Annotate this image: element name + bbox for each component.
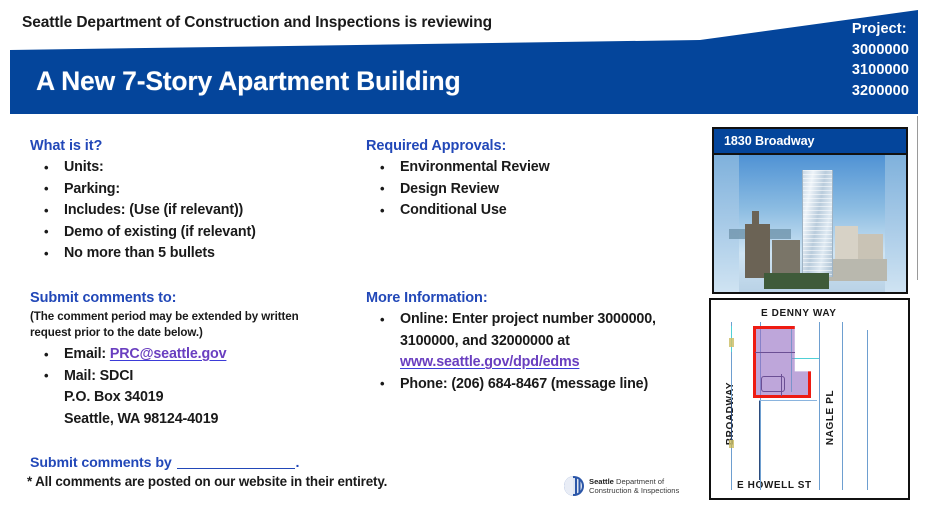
flyer-page: Seattle Department of Construction and I… xyxy=(0,0,926,510)
project-number-block: Project: 3000000 3100000 3200000 xyxy=(852,19,909,101)
sdci-logo-line1-rest: Department of xyxy=(614,477,664,486)
mail-address-line-3: Seattle, WA 98124-4019 xyxy=(64,409,360,431)
map-marker-b xyxy=(729,440,734,448)
rendering-trees xyxy=(764,273,829,289)
required-approvals-heading: Required Approvals: xyxy=(366,138,696,154)
mail-address-line-2: P.O. Box 34019 xyxy=(64,387,360,409)
submit-by-period: . xyxy=(296,455,300,471)
building-rendering-card: 1830 Broadway xyxy=(712,127,908,294)
list-item-mail: Mail: SDCI xyxy=(64,366,360,388)
section-required-approvals: Required Approvals: Environmental Review… xyxy=(366,138,696,222)
online-line-2: 3100000, and 32000000 at xyxy=(400,331,696,353)
section-more-information: More Information: Online: Enter project … xyxy=(366,290,696,395)
what-is-it-list: Units: Parking: Includes: (Use (if relev… xyxy=(30,157,360,265)
project-number-2: 3100000 xyxy=(852,60,909,81)
list-item: Includes: (Use (if relevant)) xyxy=(64,200,360,222)
list-item-online: Online: Enter project number 3000000, xyxy=(400,309,696,331)
map-marker-a xyxy=(729,338,734,347)
email-link[interactable]: PRC@seattle.gov xyxy=(110,346,227,362)
list-item: Parking: xyxy=(64,179,360,201)
what-is-it-heading: What is it? xyxy=(30,138,360,154)
sdci-globe-icon xyxy=(564,476,584,496)
online-line-1: Online: Enter project number 3000000, xyxy=(400,311,656,327)
map-label-e-denny-way: E DENNY WAY xyxy=(761,308,837,319)
edms-link[interactable]: www.seattle.gov/dpd/edms xyxy=(400,354,579,370)
online-link-row: www.seattle.gov/dpd/edms xyxy=(400,352,696,374)
submit-comments-by: Submit comments by . xyxy=(30,455,299,471)
submit-comments-heading: Submit comments to: xyxy=(30,290,360,306)
sdci-logo-text: Seattle Department of Construction & Ins… xyxy=(589,477,679,495)
sdci-logo-line2: Construction & Inspections xyxy=(589,486,679,495)
list-item: Demo of existing (if relevant) xyxy=(64,222,360,244)
submit-by-label: Submit comments by xyxy=(30,455,172,471)
rendering-caption: 1830 Broadway xyxy=(714,129,906,155)
map-road-nagle xyxy=(819,322,843,490)
rendering-low-rise xyxy=(829,259,887,281)
required-approvals-list: Environmental Review Design Review Condi… xyxy=(366,157,696,222)
right-divider-rule xyxy=(917,116,918,280)
email-label: Email: xyxy=(64,346,106,362)
project-number-3: 3200000 xyxy=(852,81,909,102)
more-information-list: Online: Enter project number 3000000, 31… xyxy=(366,309,696,395)
rendering-tower xyxy=(802,170,833,277)
map-parcel-divider-1 xyxy=(755,352,795,353)
project-label: Project: xyxy=(852,19,909,40)
page-title: A New 7-Story Apartment Building xyxy=(36,66,461,97)
list-item: Environmental Review xyxy=(400,157,696,179)
map-block-line-a xyxy=(759,400,760,480)
map-block-line-c xyxy=(759,400,817,401)
project-number-1: 3000000 xyxy=(852,40,909,61)
rendering-left-gutter xyxy=(714,155,739,292)
list-item-email: Email: PRC@seattle.gov xyxy=(64,344,360,366)
banner-shape xyxy=(10,10,918,114)
list-item: Conditional Use xyxy=(400,200,696,222)
submit-by-blank-field[interactable] xyxy=(177,468,295,469)
map-existing-building-outline xyxy=(761,376,785,392)
comments-disclaimer: * All comments are posted on our website… xyxy=(27,474,387,489)
more-information-heading: More Information: xyxy=(366,290,696,306)
map-utility-line-b xyxy=(791,358,819,359)
comment-period-note: (The comment period may be extended by w… xyxy=(30,309,330,340)
map-road-east xyxy=(867,330,908,490)
site-location-map: E DENNY WAY E HOWELL ST BROADWAY NAGLE P… xyxy=(709,298,910,500)
map-canvas: E DENNY WAY E HOWELL ST BROADWAY NAGLE P… xyxy=(715,304,904,494)
list-item: Design Review xyxy=(400,179,696,201)
sdci-logo: Seattle Department of Construction & Ins… xyxy=(564,476,679,496)
section-submit-comments: Submit comments to: (The comment period … xyxy=(30,290,360,430)
list-item: No more than 5 bullets xyxy=(64,243,360,265)
sdci-logo-line1-bold: Seattle xyxy=(589,477,614,486)
building-rendering-image xyxy=(714,155,906,292)
title-banner: A New 7-Story Apartment Building Project… xyxy=(10,10,918,114)
rendering-right-gutter xyxy=(885,155,906,292)
list-item: Units: xyxy=(64,157,360,179)
rendering-building-left xyxy=(745,224,770,279)
submit-comments-list: Email: PRC@seattle.gov Mail: SDCI P.O. B… xyxy=(30,344,360,430)
section-what-is-it: What is it? Units: Parking: Includes: (U… xyxy=(30,138,360,265)
list-item-phone: Phone: (206) 684-8467 (message line) xyxy=(400,374,696,396)
